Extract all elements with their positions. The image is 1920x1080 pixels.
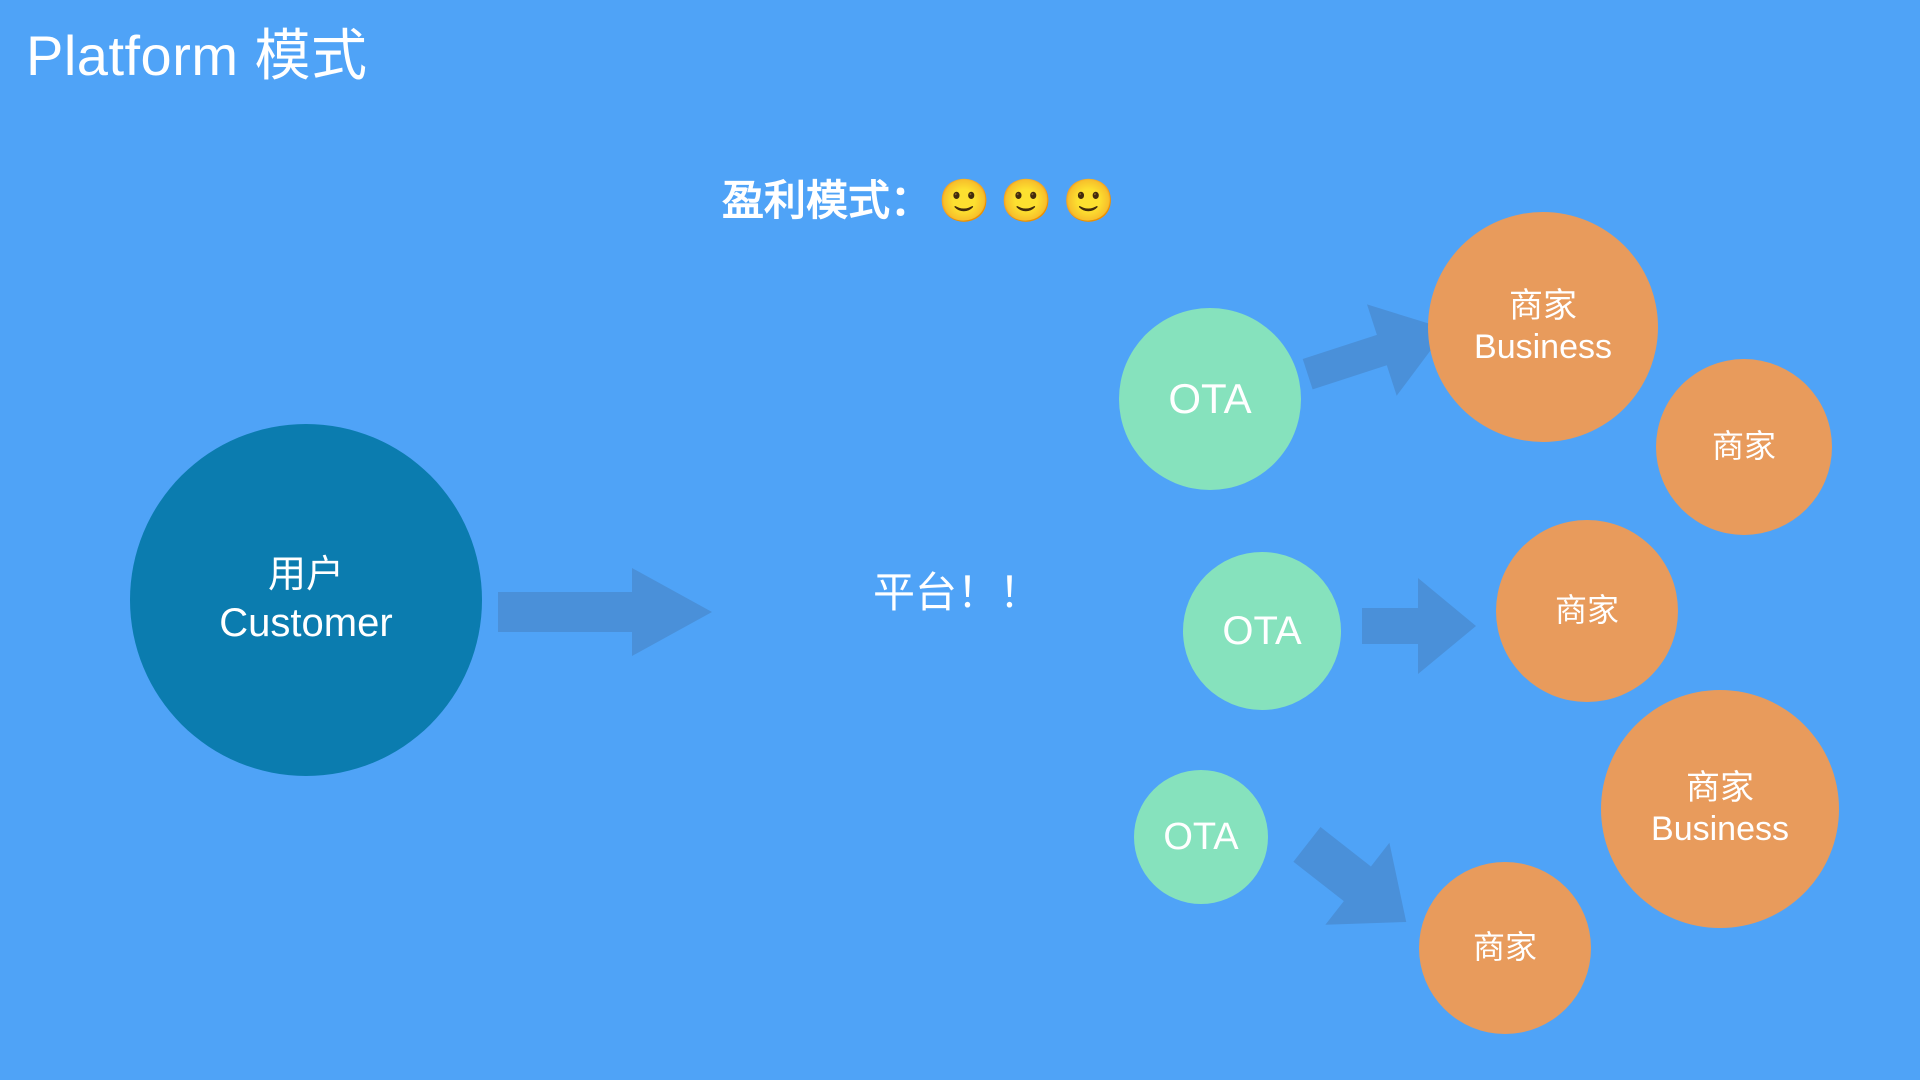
page-title: Platform 模式 <box>26 24 368 88</box>
node-business-3[interactable]: 商家 <box>1496 520 1678 702</box>
node-business-2-label-cn: 商家 <box>1712 427 1776 466</box>
node-business-1-label-en: Business <box>1474 327 1612 368</box>
profit-model-rating: 🙂 🙂 🙂 <box>938 180 1115 222</box>
slide-canvas: Platform 模式 盈利模式： 🙂 🙂 🙂 用户 Customer 平台！！… <box>0 0 1920 1080</box>
node-business-5-label-cn: 商家 <box>1473 928 1537 967</box>
smiling-face-emoji: 🙂 <box>1063 180 1115 222</box>
profit-model-annotation: 盈利模式： 🙂 🙂 🙂 <box>722 180 1115 222</box>
node-business-2[interactable]: 商家 <box>1656 359 1832 535</box>
arrow-customer-to-platform-icon <box>498 568 712 656</box>
arrow-ota2-to-business-icon <box>1362 574 1478 678</box>
node-ota-3[interactable]: OTA <box>1134 770 1268 904</box>
node-ota-3-label: OTA <box>1163 814 1238 860</box>
node-ota-2[interactable]: OTA <box>1183 552 1341 710</box>
node-customer-label-cn: 用户 <box>268 552 344 598</box>
node-ota-1[interactable]: OTA <box>1119 308 1301 490</box>
arrow-ota3-to-business-icon <box>1288 818 1428 948</box>
node-business-3-label-cn: 商家 <box>1555 591 1619 630</box>
node-business-1-label-cn: 商家 <box>1509 286 1577 327</box>
node-business-4-label-en: Business <box>1651 809 1789 850</box>
smiling-face-emoji: 🙂 <box>1000 180 1052 222</box>
node-customer-label-en: Customer <box>219 599 392 648</box>
node-business-5[interactable]: 商家 <box>1419 862 1591 1034</box>
node-business-4[interactable]: 商家 Business <box>1601 690 1839 928</box>
node-ota-2-label: OTA <box>1222 607 1301 656</box>
platform-label: 平台！！ <box>873 572 1041 614</box>
node-business-1[interactable]: 商家 Business <box>1428 212 1658 442</box>
node-customer[interactable]: 用户 Customer <box>130 424 482 776</box>
smiling-face-emoji: 🙂 <box>938 180 990 222</box>
node-business-4-label-cn: 商家 <box>1686 768 1754 809</box>
node-ota-1-label: OTA <box>1168 373 1251 424</box>
profit-model-label: 盈利模式： <box>722 180 932 222</box>
